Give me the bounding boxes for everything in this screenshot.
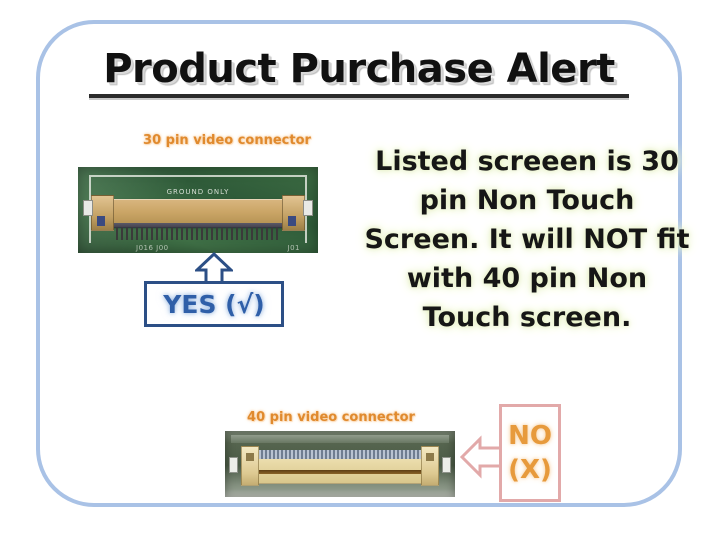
no-verdict-label-line1: NO <box>508 419 552 453</box>
connector-40-pin-photo <box>225 431 455 497</box>
connector-40-pin-top-strip <box>231 435 449 443</box>
title-underline-rule <box>89 94 629 98</box>
connector-40-pin-slot <box>259 470 421 474</box>
connector-30-pin-pin-row <box>116 227 280 240</box>
caption-30-pin-connector: 30 pin video connector <box>102 131 352 149</box>
caption-40-pin-label: 40 pin video connector <box>247 410 415 425</box>
connector-40-pin-right-solder-tab <box>442 457 451 473</box>
connector-40-pin-pin-row <box>255 450 425 459</box>
connector-30-pin-right-solder-tab <box>303 200 313 216</box>
page-title: Product Purchase Alert <box>103 46 615 92</box>
connector-30-pin-photo: GROUND ONLY J016 J00 J01 <box>78 167 318 253</box>
title-block: Product Purchase Alert <box>40 46 678 98</box>
connector-40-pin-left-solder-tab <box>229 457 238 473</box>
main-message-text: Listed screeen is 30 pin Non Touch Scree… <box>362 142 692 337</box>
connector-40-pin-left-latch <box>241 446 259 486</box>
connector-30-pin-left-solder-tab <box>83 200 93 216</box>
connector-30-pin-right-latch <box>282 195 305 231</box>
no-verdict-box[interactable]: NO (X) <box>499 404 561 502</box>
caption-30-pin-label: 30 pin video connector <box>143 133 311 148</box>
alert-frame: Product Purchase Alert 30 pin video conn… <box>36 20 682 507</box>
yes-verdict-label: YES (√) <box>163 290 264 319</box>
caption-40-pin-connector: 40 pin video connector <box>206 408 456 426</box>
yes-verdict-box[interactable]: YES (√) <box>144 281 284 327</box>
pcb-silkscreen-bottom-right: J01 <box>288 244 300 252</box>
no-verdict-label-line2: (X) <box>508 453 552 487</box>
connector-40-pin-right-latch <box>421 446 439 486</box>
connector-30-pin-left-latch <box>91 195 114 231</box>
pcb-silkscreen-bottom-left: J016 J00 <box>136 244 169 252</box>
